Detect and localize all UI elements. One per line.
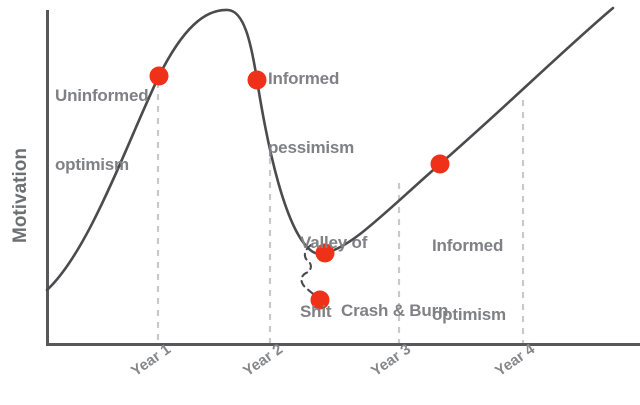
annotation-uninformed-optimism-line1: Uninformed bbox=[55, 84, 148, 107]
chart-canvas: Motivation Uninformed optimism Informed … bbox=[0, 0, 640, 405]
y-axis-title: Motivation bbox=[10, 148, 32, 243]
annotation-valley-of-shit: Valley of Shit bbox=[300, 185, 367, 369]
annotation-informed-pessimism: Informed pessimism bbox=[268, 21, 354, 205]
annotation-uninformed-optimism-line2: optimism bbox=[55, 153, 148, 176]
marker-informed-pessimism[interactable] bbox=[248, 71, 267, 90]
annotation-uninformed-optimism: Uninformed optimism bbox=[55, 38, 148, 222]
annotation-informed-pessimism-line1: Informed bbox=[268, 67, 354, 90]
annotation-informed-pessimism-line2: pessimism bbox=[268, 136, 354, 159]
annotation-valley-of-shit-line1: Valley of bbox=[300, 231, 367, 254]
annotation-crash-and-burn: Crash & Burn bbox=[341, 300, 448, 321]
annotation-informed-optimism-line1: Informed bbox=[432, 234, 506, 257]
annotation-informed-optimism: Informed optimism bbox=[432, 188, 506, 372]
marker-uninformed-optimism[interactable] bbox=[150, 67, 169, 86]
marker-informed-optimism[interactable] bbox=[431, 155, 450, 174]
